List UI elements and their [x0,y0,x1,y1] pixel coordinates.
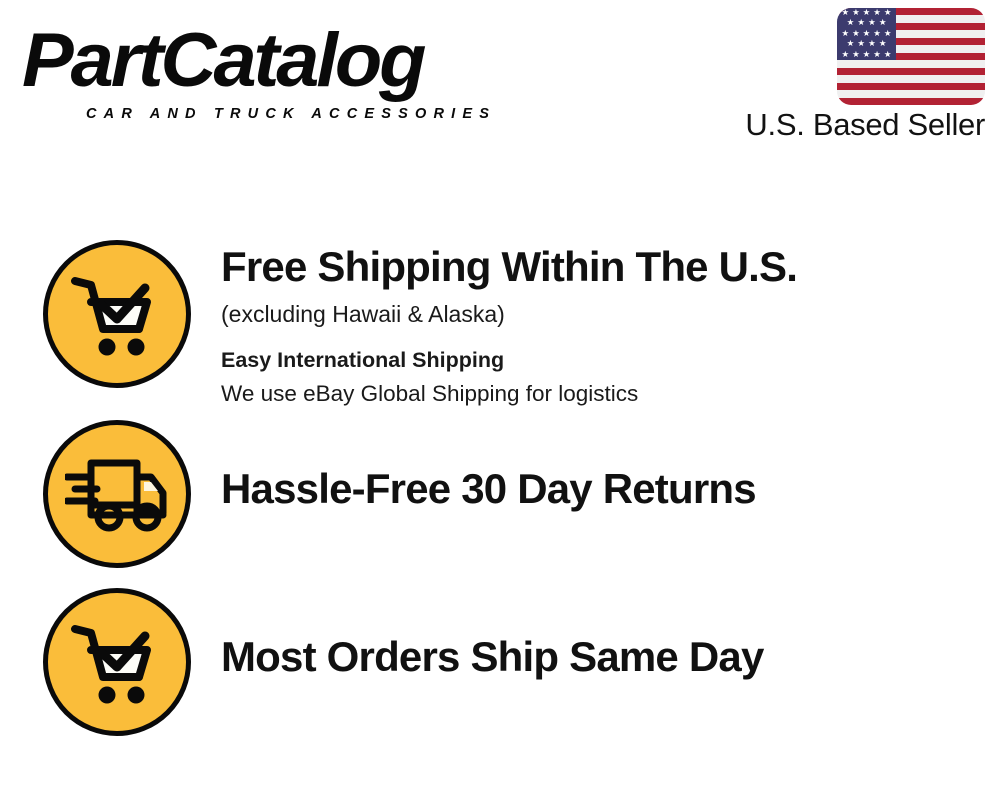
flag-canton: ★ ★ ★ ★ ★ ★ ★ ★ ★ ★ ★ ★ ★ ★ [837,8,896,60]
flag-star-row: ★ ★ ★ ★ [837,18,896,28]
flag-star-row: ★ ★ ★ ★ [837,39,896,49]
flag-star: ★ [884,9,892,18]
feature-text-block: Hassle-Free 30 Day Returns [221,420,1000,514]
feature-text-block: Most Orders Ship Same Day [221,588,1000,682]
brand-logo: PartCatalog CAR AND TRUCK ACCESSORIES [22,18,492,118]
flag-star: ★ [873,30,881,39]
flag-star: ★ [852,51,860,60]
flag-star-row: ★ ★ ★ ★ ★ [837,29,896,39]
shopping-cart-check-icon [43,240,191,388]
flag-star: ★ [852,30,860,39]
flag-star: ★ [852,9,860,18]
flag-star: ★ [879,40,887,49]
shipping-info-banner: PartCatalog CAR AND TRUCK ACCESSORIES [0,0,1000,800]
flag-star: ★ [884,30,892,39]
flag-star: ★ [868,19,876,28]
feature-row-free-shipping: Free Shipping Within The U.S. (excluding… [0,240,1000,410]
flag-star: ★ [873,51,881,60]
flag-star: ★ [863,9,871,18]
feature-subheading: Easy International Shipping [221,344,1000,376]
flag-star: ★ [884,51,892,60]
flag-star: ★ [841,9,849,18]
feature-headline: Hassle-Free 30 Day Returns [221,464,1000,514]
seller-badge-label: U.S. Based Seller [685,107,985,143]
flag-stripe [837,90,985,97]
flag-star: ★ [847,40,855,49]
delivery-truck-icon [43,420,191,568]
flag-star-row: ★ ★ ★ ★ ★ [837,8,896,18]
brand-tagline: CAR AND TRUCK ACCESSORIES [86,106,496,122]
brand-wordmark: PartCatalog [22,18,423,104]
flag-star: ★ [879,19,887,28]
feature-row-returns: Hassle-Free 30 Day Returns [0,420,1000,568]
flag-star: ★ [868,40,876,49]
flag-stripe [837,75,985,82]
flag-stripe [837,60,985,67]
feature-note: (excluding Hawaii & Alaska) [221,298,1000,330]
feature-subtext: We use eBay Global Shipping for logistic… [221,378,1000,410]
flag-star: ★ [841,30,849,39]
us-flag-icon: ★ ★ ★ ★ ★ ★ ★ ★ ★ ★ ★ ★ ★ ★ [837,8,985,105]
flag-stripe [837,68,985,75]
flag-star: ★ [841,51,849,60]
flag-stripe [837,98,985,105]
flag-star-row: ★ ★ ★ ★ ★ [837,50,896,60]
flag-stripe [837,83,985,90]
flag-star: ★ [857,19,865,28]
flag-star: ★ [857,40,865,49]
flag-star: ★ [873,9,881,18]
feature-headline: Most Orders Ship Same Day [221,632,1000,682]
feature-row-same-day-shipping: Most Orders Ship Same Day [0,588,1000,736]
us-based-seller-badge: ★ ★ ★ ★ ★ ★ ★ ★ ★ ★ ★ ★ ★ ★ [685,8,985,143]
shopping-cart-check-icon [43,588,191,736]
flag-star: ★ [863,51,871,60]
feature-text-block: Free Shipping Within The U.S. (excluding… [221,240,1000,410]
feature-headline: Free Shipping Within The U.S. [221,242,1000,292]
flag-star: ★ [863,30,871,39]
flag-star: ★ [847,19,855,28]
